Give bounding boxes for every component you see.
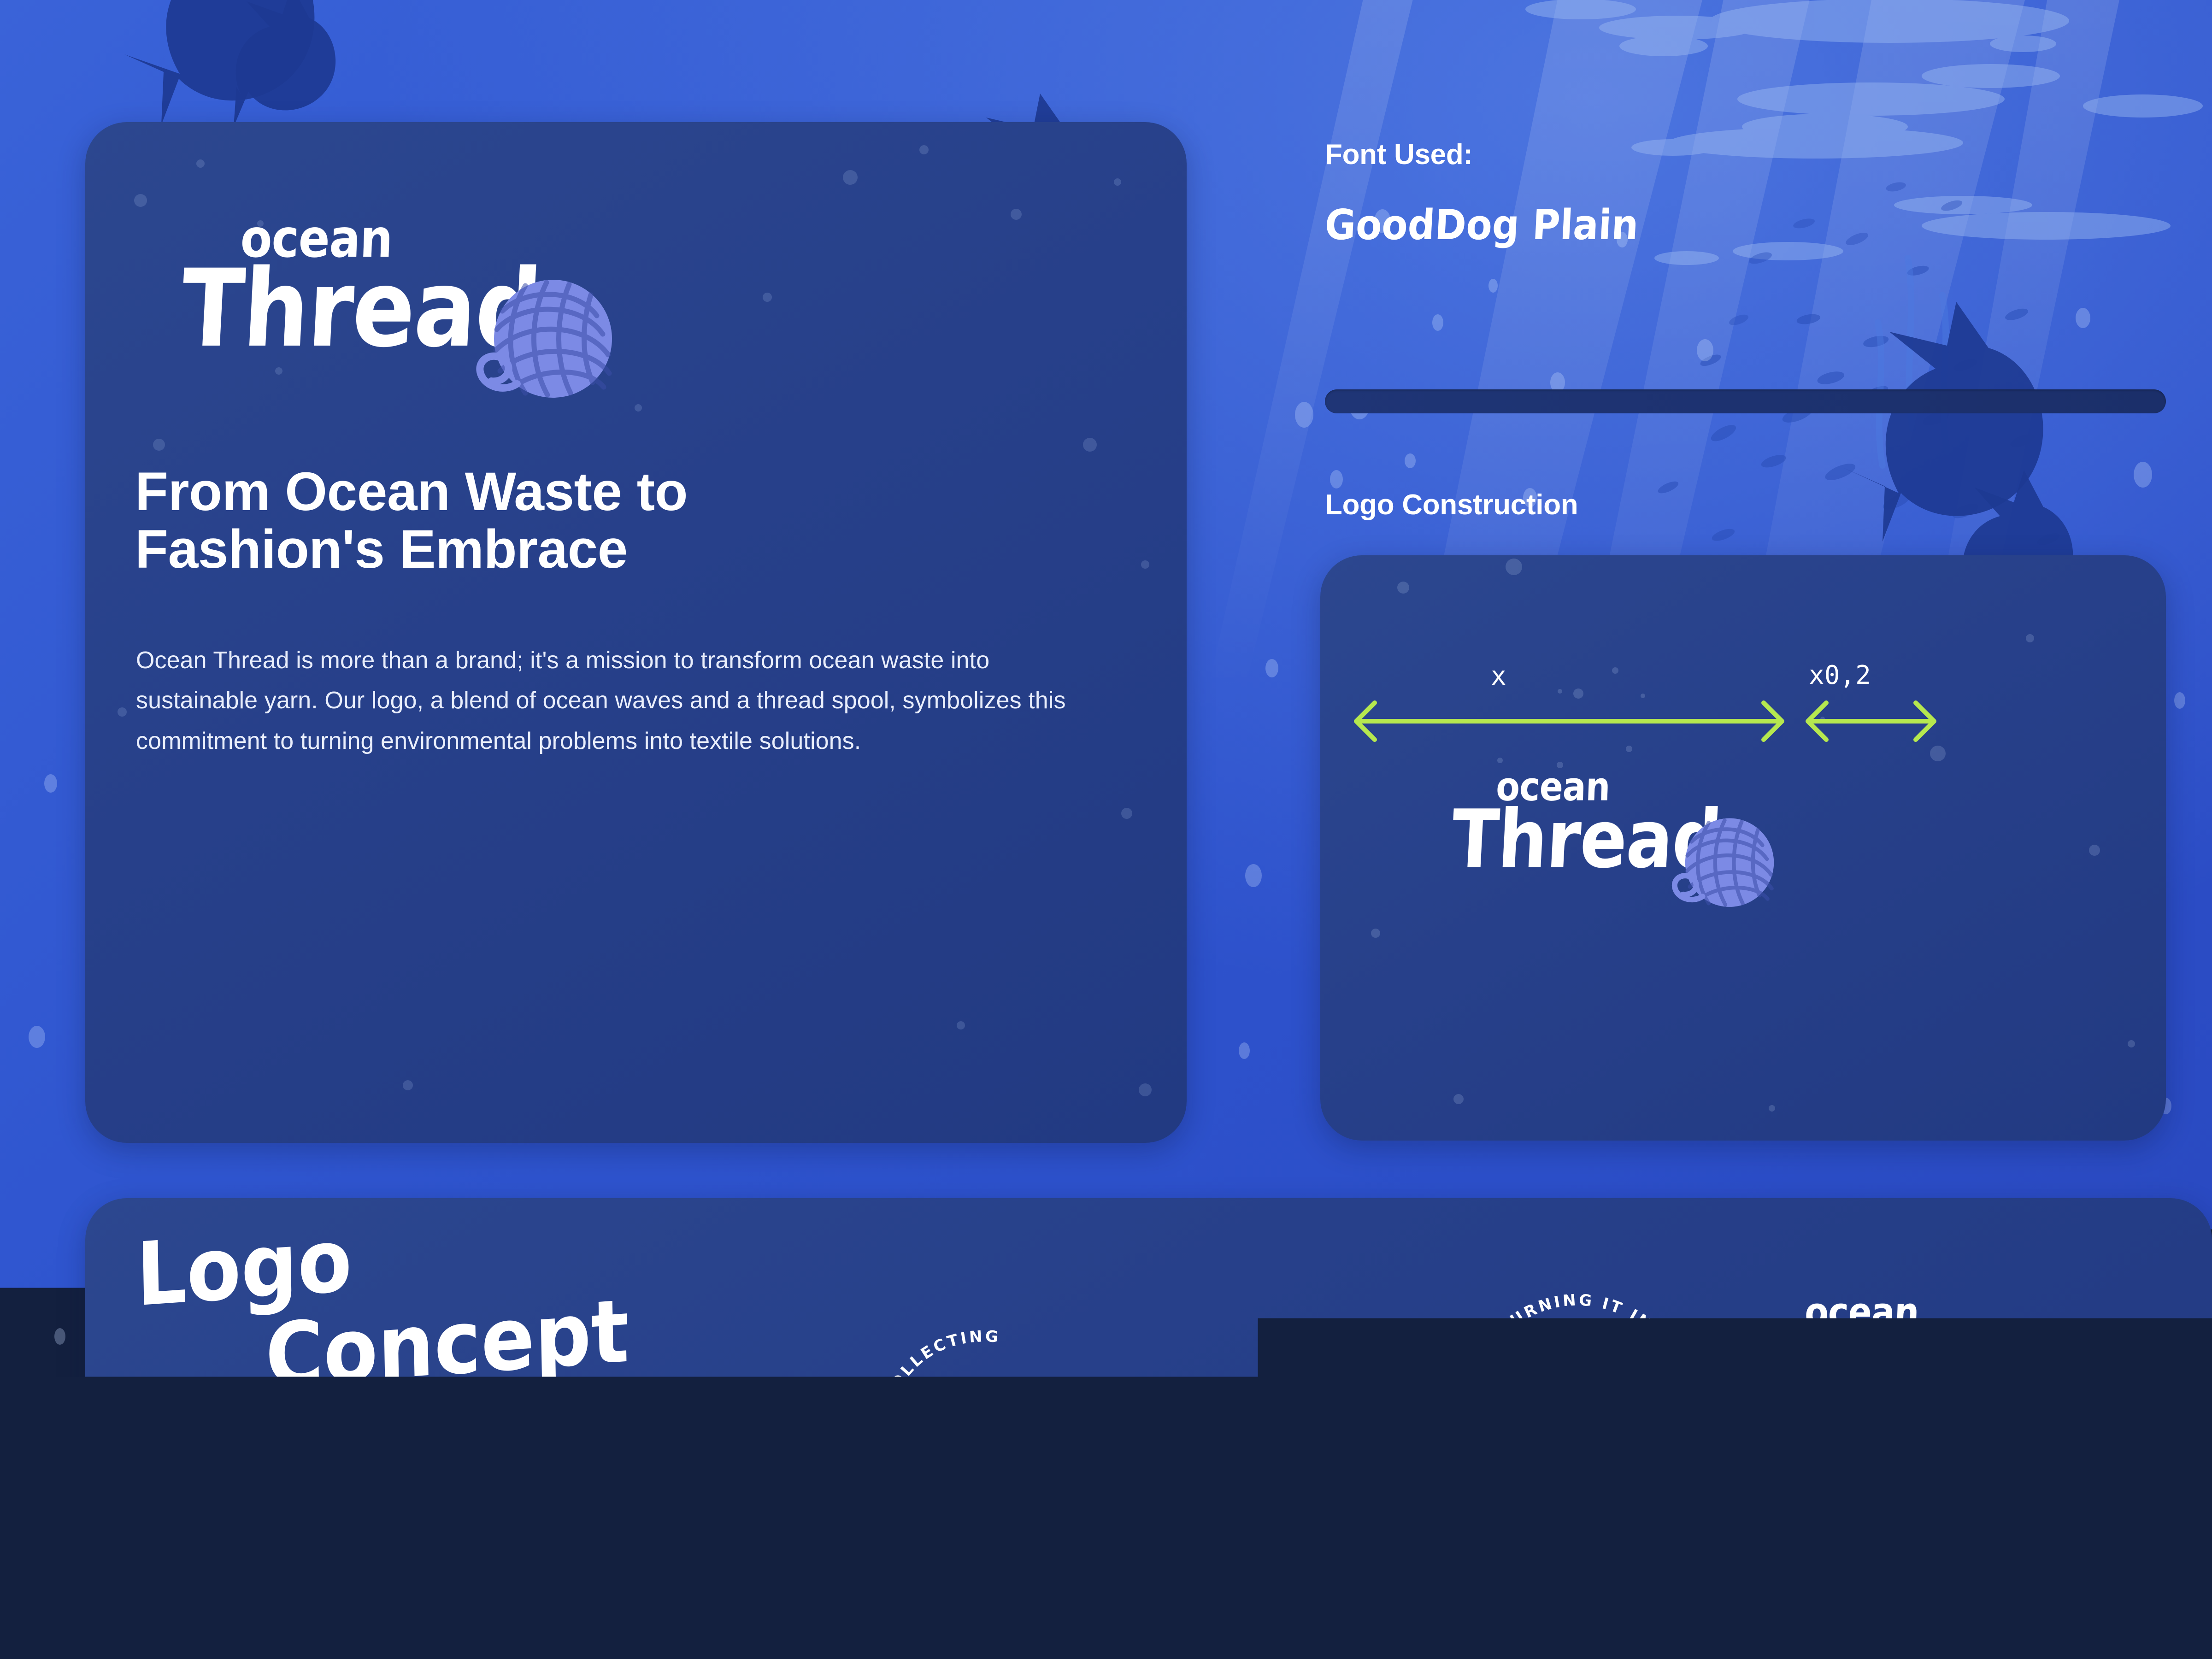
concept-result-logo: ocean Thread [1763, 1297, 2032, 1394]
logo-concept-sketch: COLLECTING WASTE TURNING IT INTO YARN [859, 1253, 1832, 1548]
logo-concept-card: Logo Concept [85, 1198, 2212, 1599]
hero-headline-line2: Fashion's Embrace [135, 521, 1080, 578]
hero-card: ocean Thread [85, 122, 1187, 1143]
yarn-ball-icon [1965, 1336, 2083, 1450]
brand-board-canvas: ocean Thread [0, 0, 2212, 1659]
fish-silhouette-small-left [234, 0, 335, 127]
logo-construction-label: Logo Construction [1325, 488, 1578, 521]
font-used-section: Font Used: GoodDog Plain [1325, 138, 2177, 247]
yarn-ball-icon [456, 270, 613, 422]
font-name-text: GoodDog Plain [1324, 201, 1640, 249]
font-used-label: Font Used: [1325, 138, 2177, 171]
fish-silhouette-large-left [124, 0, 314, 125]
construction-logo-lockup: ocean Thread [1454, 772, 1723, 869]
hero-body-text: Ocean Thread is more than a brand; it's … [136, 641, 1099, 761]
seaweed-strands [1878, 258, 1947, 465]
font-name-display: GoodDog Plain [1325, 203, 2177, 247]
equals-sign: = [1647, 1370, 1673, 1420]
logo-construction-card: x x0,2 ocean Thread [1320, 555, 2166, 1141]
hero-headline-line1: From Ocean Waste to [135, 463, 1080, 521]
hero-headline: From Ocean Waste to Fashion's Embrace [135, 463, 1080, 578]
brand-logo-lockup: ocean Thread [184, 219, 543, 348]
yarn-ball-icon [1657, 811, 1775, 925]
sketch-label-collecting-waste: COLLECTING WASTE [859, 1253, 1010, 1405]
fish-silhouette-large-right [1843, 302, 2043, 541]
font-section-divider [1325, 389, 2166, 413]
